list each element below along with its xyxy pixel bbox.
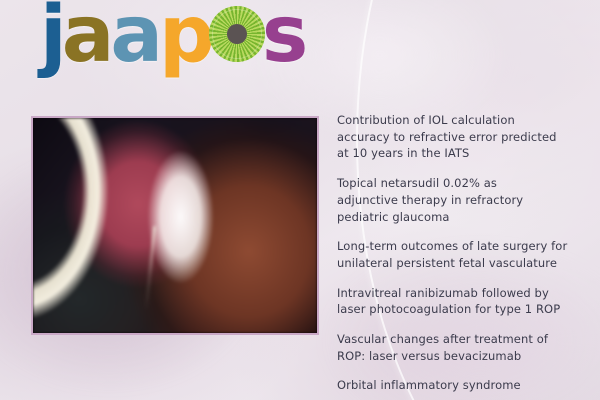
article-line: Orbital inflammatory syndrome	[337, 377, 587, 394]
article-item[interactable]: Vascular changes after treatment of ROP:…	[337, 331, 587, 364]
article-line: adjunctive therapy in refractory	[337, 192, 587, 209]
article-line: ROP: laser versus bevacizumab	[337, 348, 587, 365]
article-item[interactable]: Contribution of IOL calculation accuracy…	[337, 112, 587, 162]
journal-cover-poster: j a a p s Contribution of IOL calculatio…	[0, 0, 600, 400]
article-item[interactable]: Intravitreal ranibizumab followed by las…	[337, 285, 587, 318]
article-line: at 10 years in the IATS	[337, 145, 587, 162]
article-line: Intravitreal ranibizumab followed by	[337, 285, 587, 302]
logo-letter-a-first: a	[62, 4, 111, 68]
article-line: accuracy to refractive error predicted	[337, 129, 587, 146]
article-line: Vascular changes after treatment of	[337, 331, 587, 348]
article-item[interactable]: Long-term outcomes of late surgery for u…	[337, 238, 587, 271]
article-line: Topical netarsudil 0.02% as	[337, 175, 587, 192]
logo-letter-a-second: a	[110, 4, 159, 68]
article-item[interactable]: Orbital inflammatory syndrome	[337, 377, 587, 394]
article-item[interactable]: Topical netarsudil 0.02% as adjunctive t…	[337, 175, 587, 225]
logo-letter-j: j	[40, 4, 63, 68]
article-line: laser photocoagulation for type 1 ROP	[337, 301, 587, 318]
article-line: unilateral persistent fetal vasculature	[337, 255, 587, 272]
logo-letter-o-kiwi-iris-icon	[209, 6, 265, 62]
article-line: Long-term outcomes of late surgery for	[337, 238, 587, 255]
kiwi-pupil	[227, 24, 247, 44]
jaapos-logo: j a a p s	[40, 0, 304, 68]
fundus-photo-vignette	[33, 118, 317, 333]
article-line: pediatric glaucoma	[337, 209, 587, 226]
article-title-list: Contribution of IOL calculation accuracy…	[337, 112, 587, 400]
logo-letter-p: p	[159, 4, 211, 68]
logo-letter-s: s	[262, 4, 304, 68]
article-line: Contribution of IOL calculation	[337, 112, 587, 129]
fundus-photo	[31, 116, 319, 335]
